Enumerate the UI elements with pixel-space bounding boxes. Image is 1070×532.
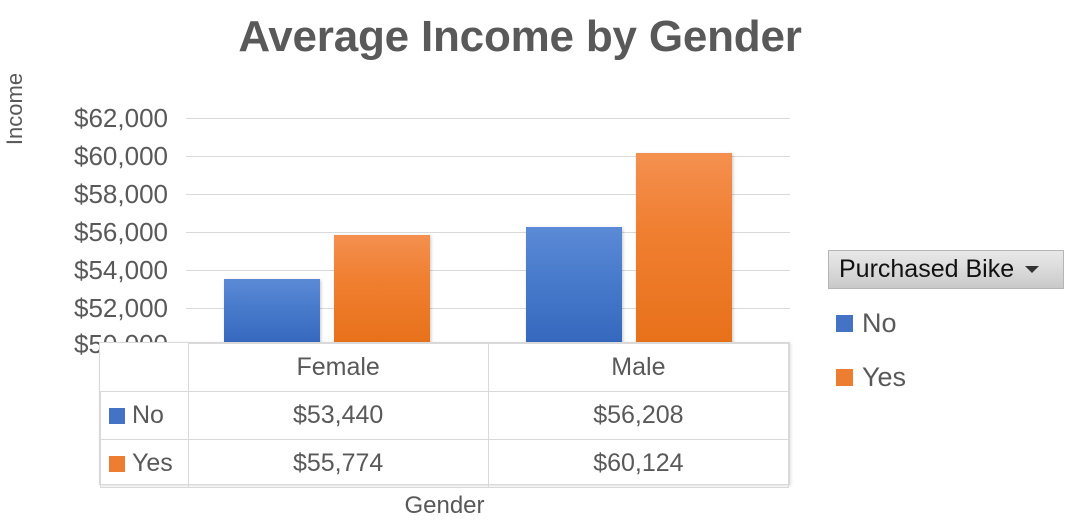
y-tick-label: $58,000	[8, 181, 168, 207]
table-cell-female-yes: $55,774	[188, 440, 488, 488]
table-row-header-label: No	[132, 401, 164, 429]
legend-label-yes: Yes	[862, 362, 906, 393]
table-column-header-female: Female	[188, 344, 488, 392]
table-row: No $53,440 $56,208	[101, 392, 789, 440]
y-tick-label: $54,000	[8, 257, 168, 283]
pivot-field-button-label: Purchased Bike	[839, 255, 1025, 284]
y-tick-label: $60,000	[8, 143, 168, 169]
bar-male-no[interactable]	[526, 227, 622, 344]
table-row-header-no: No	[101, 392, 189, 440]
table-cell-male-no: $56,208	[488, 392, 788, 440]
y-tick-label: $62,000	[8, 105, 168, 131]
x-axis-title: Gender	[99, 492, 790, 520]
table-cell-male-yes: $60,124	[488, 440, 788, 488]
table-row-header-label: Yes	[132, 449, 173, 477]
table-cell-female-no: $53,440	[188, 392, 488, 440]
table-corner-cell	[101, 344, 189, 392]
legend-entry-no[interactable]: No	[836, 308, 897, 339]
legend-swatch-no-icon	[836, 315, 853, 332]
plot-area	[186, 118, 790, 344]
bar-female-yes[interactable]	[334, 235, 430, 344]
gridline	[186, 118, 790, 119]
data-table: Female Male No $53,440 $56,208 Yes $55,7…	[99, 342, 790, 485]
chevron-down-icon[interactable]	[1025, 266, 1039, 273]
table-row: Yes $55,774 $60,124	[101, 440, 789, 488]
legend-entry-yes[interactable]: Yes	[836, 362, 906, 393]
series-swatch-no-icon	[109, 408, 125, 424]
y-tick-label: $52,000	[8, 295, 168, 321]
y-tick-label: $56,000	[8, 219, 168, 245]
series-swatch-yes-icon	[109, 456, 125, 472]
table-row-header-yes: Yes	[101, 440, 189, 488]
table-column-header-male: Male	[488, 344, 788, 392]
legend-swatch-yes-icon	[836, 369, 853, 386]
table-row-header: Female Male	[101, 344, 789, 392]
legend-label-no: No	[862, 308, 897, 339]
pivot-field-button-purchased-bike[interactable]: Purchased Bike	[828, 250, 1064, 289]
bar-female-no[interactable]	[224, 279, 320, 344]
bar-male-yes[interactable]	[636, 153, 732, 344]
